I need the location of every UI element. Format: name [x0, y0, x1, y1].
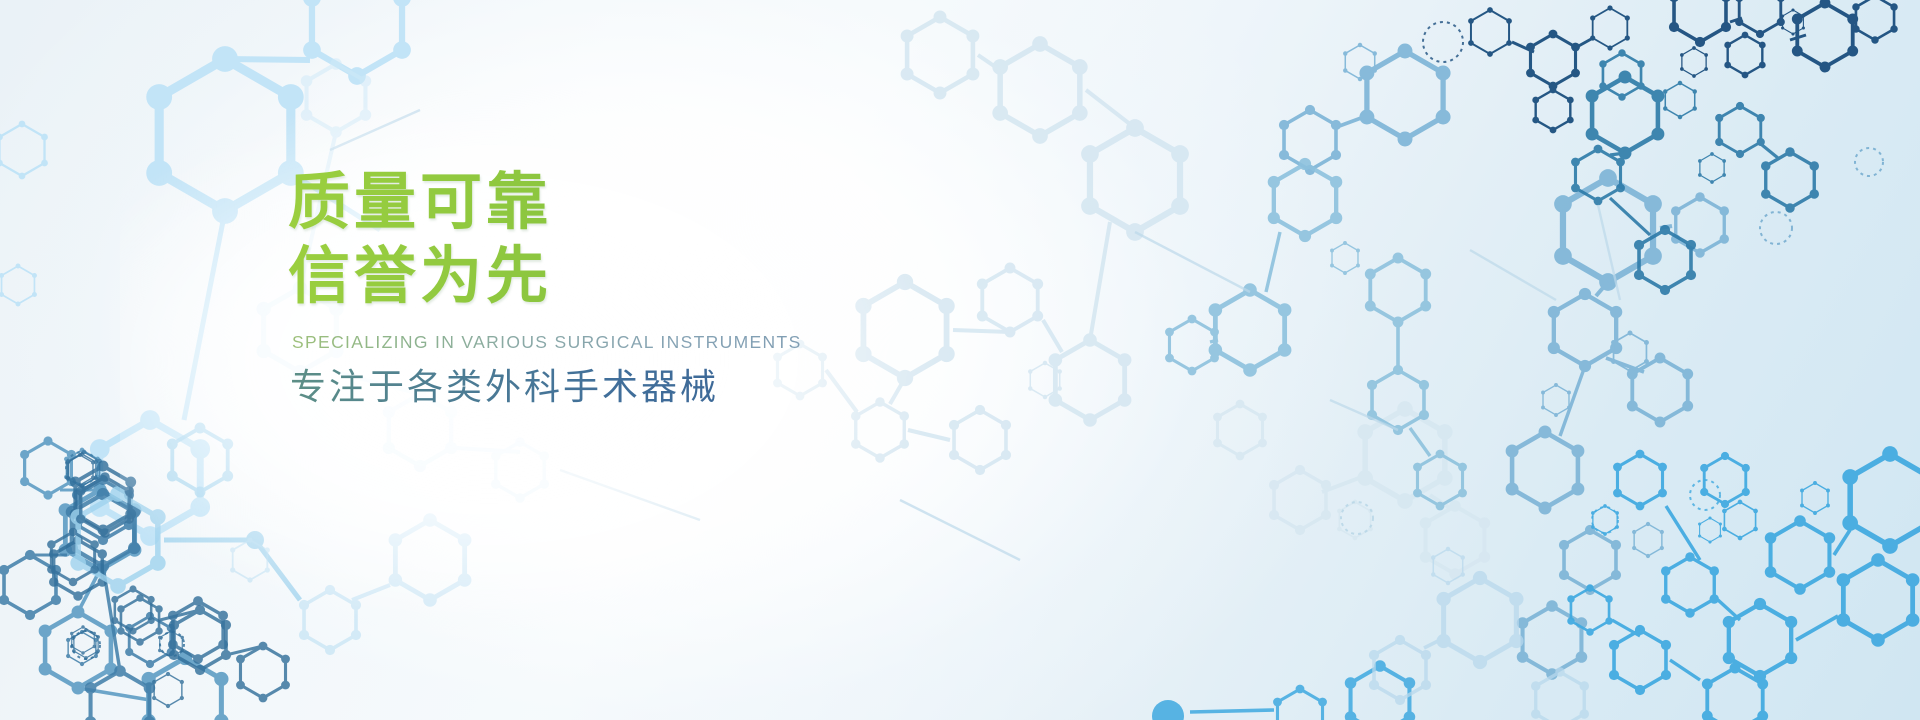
molecule-cluster-center-low — [230, 513, 471, 655]
molecule-chain-upper-right — [1165, 158, 1467, 511]
molecule-cluster-middle-low — [1213, 400, 1490, 580]
molecule-cluster-right-pale — [1369, 547, 1589, 720]
molecule-cluster-right-dark — [1468, 0, 1898, 133]
molecule-cluster-bottom-right — [1567, 446, 1920, 720]
headline-line-1: 质量可靠 — [288, 168, 1048, 236]
banner-copy: 质量可靠 信誉为先 SPECIALIZING IN VARIOUS SURGIC… — [288, 168, 1048, 411]
subtitle-english: SPECIALIZING IN VARIOUS SURGICAL INSTRUM… — [292, 332, 1048, 353]
hero-banner: 质量可靠 信誉为先 SPECIALIZING IN VARIOUS SURGIC… — [0, 0, 1920, 720]
headline-line-2: 信誉为先 — [288, 242, 1048, 310]
subtitle-chinese: 专注于各类外科手术器械 — [290, 365, 1048, 411]
